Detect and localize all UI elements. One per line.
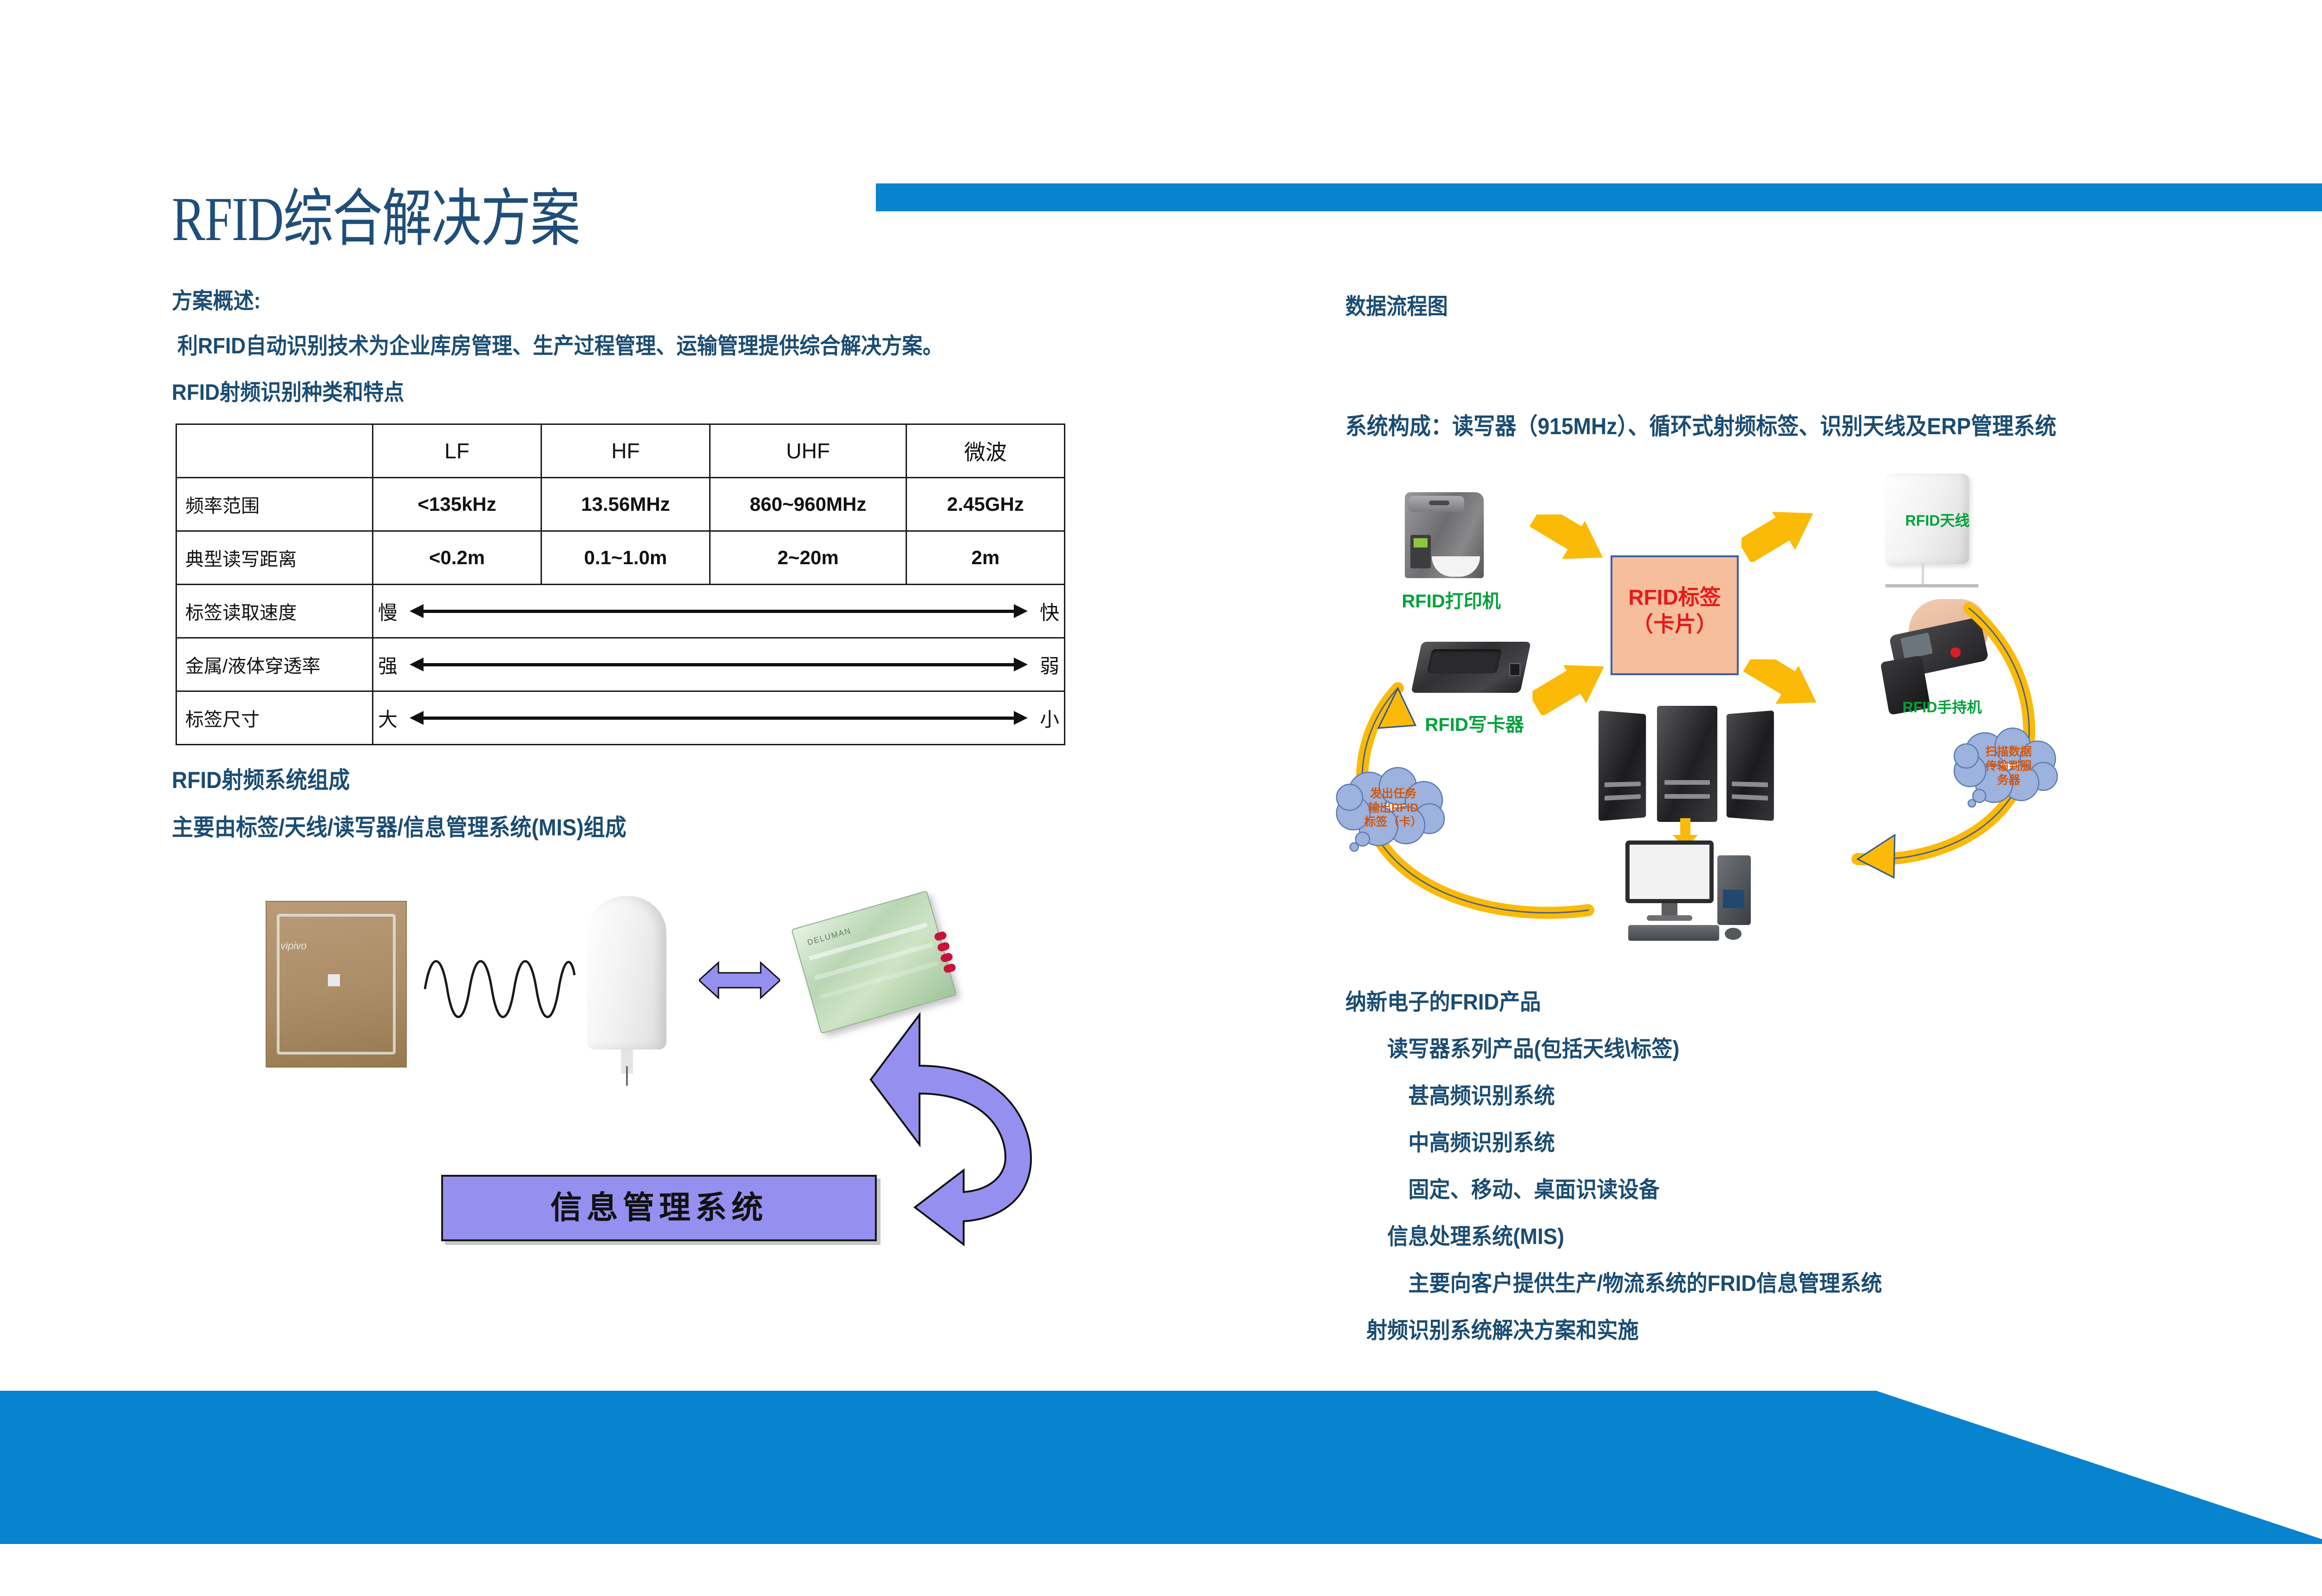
right-cloud-callout: 扫描数据 传输到服 务器 [1950, 724, 2067, 808]
cell-distance-lf: <0.2m [373, 531, 541, 585]
cell-frequency-hf: 13.56MHz [541, 478, 710, 531]
double-arrow-icon [410, 660, 1028, 669]
row-label-tag-size: 标签尺寸 [176, 691, 373, 745]
scale-left-label: 大 [378, 704, 398, 732]
rfid-tag-box-line1: RFID标签 [1612, 557, 1737, 611]
cell-frequency-microwave: 2.45GHz [907, 478, 1065, 531]
rfid-comparison-table: LF HF UHF 微波 频率范围 <135kHz 13.56MHz 860~9… [176, 423, 1065, 745]
scale-read-speed: 慢 快 [373, 585, 1065, 638]
table-row: 频率范围 <135kHz 13.56MHz 860~960MHz 2.45GHz [176, 478, 1065, 531]
scale-left-label: 慢 [378, 597, 398, 625]
system-text: 主要由标签/天线/读写器/信息管理系统(MIS)组成 [172, 809, 626, 842]
table-header-microwave: 微波 [907, 424, 1065, 478]
scale-tag-size: 大 小 [373, 691, 1065, 745]
rfid-printer-image [1405, 492, 1498, 583]
table-row: 标签尺寸 大 小 [176, 691, 1065, 745]
scale-right-label: 弱 [1040, 651, 1059, 679]
list-item: 射频识别系统解决方案和实施 [1345, 1312, 1882, 1344]
cell-frequency-uhf: 860~960MHz [710, 478, 907, 531]
server-stack-image [1598, 706, 1779, 822]
left-cloud-text: 发出任务 输出RFID 标签（卡） [1333, 764, 1454, 852]
row-label-frequency-range: 频率范围 [176, 478, 373, 531]
desktop-computer-image [1625, 840, 1760, 943]
arrow-tag-to-antenna-icon [1741, 511, 1820, 562]
mis-box: 信息管理系统 [441, 1175, 877, 1241]
flow-heading: 数据流程图 [1345, 288, 1448, 320]
list-item: 中高频识别系统 [1345, 1124, 1882, 1157]
data-flow-diagram: RFID打印机 RFID写卡器 RFID天线 RFID手持机 RFID标签 （卡… [1328, 464, 2164, 952]
list-item: 固定、移动、桌面识读设备 [1345, 1171, 1882, 1204]
scale-right-label: 小 [1040, 704, 1059, 732]
table-header-uhf: UHF [710, 424, 907, 478]
mis-box-label: 信息管理系统 [443, 1177, 875, 1239]
system-heading: RFID射频系统组成 [172, 762, 350, 795]
types-heading: RFID射频识别种类和特点 [172, 374, 404, 406]
top-accent-bar [876, 183, 2322, 211]
list-item: 甚高频识别系统 [1345, 1077, 1882, 1110]
page-title: RFID综合解决方案 [172, 188, 580, 251]
list-item: 主要向客户提供生产/物流系统的FRID信息管理系统 [1345, 1265, 1882, 1297]
rfid-antenna-label: RFID天线 [1891, 509, 1984, 530]
scale-left-label: 强 [378, 651, 398, 679]
row-label-read-distance: 典型读写距离 [176, 531, 373, 585]
table-row: 典型读写距离 <0.2m 0.1~1.0m 2~20m 2m [176, 531, 1065, 585]
table-corner-cell [176, 424, 373, 478]
cell-distance-microwave: 2m [907, 531, 1065, 585]
list-item: 读写器系列产品(包括天线\标签) [1345, 1030, 1882, 1063]
rf-wave-icon [423, 947, 576, 1031]
scale-right-label: 快 [1040, 597, 1059, 625]
composition-text: 系统构成：读写器（915MHz）、循环式射频标签、识别天线及ERP管理系统 [1345, 408, 2056, 441]
scale-penetration: 强 弱 [373, 638, 1065, 691]
overview-label: 方案概述: [172, 282, 261, 315]
left-cloud-callout: 发出任务 输出RFID 标签（卡） [1333, 764, 1454, 852]
cell-distance-hf: 0.1~1.0m [541, 531, 710, 585]
double-arrow-icon [410, 606, 1028, 616]
table-header-lf: LF [373, 424, 541, 478]
table-header-hf: HF [541, 424, 710, 478]
product-list: 纳新电子的FRID产品 读写器系列产品(包括天线\标签) 甚高频识别系统 中高频… [1345, 984, 1916, 1359]
rfid-antenna-photo [587, 896, 666, 1049]
overview-text: 利RFID自动识别技术为企业库房管理、生产过程管理、运输管理提供综合解决方案。 [177, 327, 943, 360]
list-item: 信息处理系统(MIS) [1345, 1218, 1882, 1251]
rfid-tag-photo: vipivo [266, 901, 407, 1068]
table-row: 金属/液体穿透率 强 弱 [176, 638, 1065, 691]
cell-distance-uhf: 2~20m [710, 531, 907, 585]
rfid-tag-box-line2: （卡片） [1612, 611, 1737, 638]
right-cloud-text: 扫描数据 传输到服 务器 [1950, 724, 2067, 808]
table-row: 标签读取速度 慢 快 [176, 585, 1065, 638]
row-label-read-speed: 标签读取速度 [176, 585, 373, 638]
arrow-printer-to-tag-icon [1528, 515, 1607, 566]
table-header-row: LF HF UHF 微波 [176, 424, 1065, 478]
rfid-tag-box: RFID标签 （卡片） [1611, 555, 1739, 675]
bottom-accent-banner [0, 1391, 2322, 1544]
list-item: 纳新电子的FRID产品 [1345, 984, 1882, 1016]
double-arrow-icon [410, 713, 1028, 723]
row-label-penetration: 金属/液体穿透率 [176, 638, 373, 691]
bidirectional-arrow-icon [699, 959, 780, 1002]
cell-frequency-lf: <135kHz [373, 478, 541, 531]
curved-arrow-icon [845, 1012, 1059, 1249]
